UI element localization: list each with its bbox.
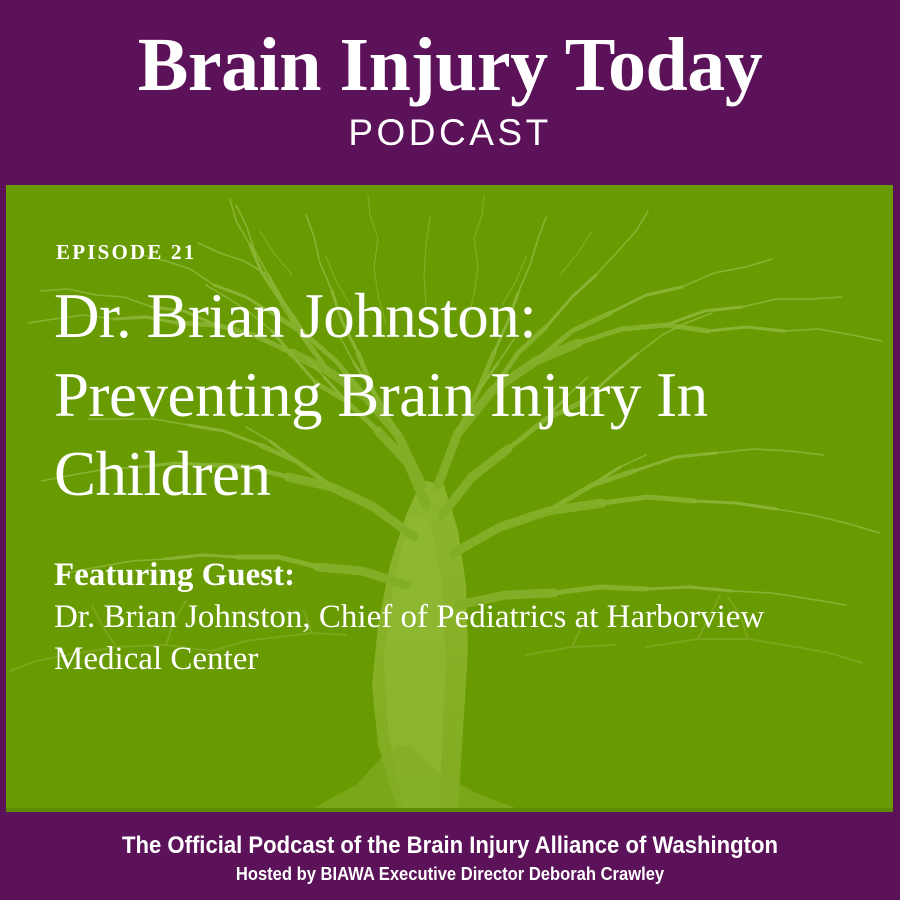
footer-affiliation: The Official Podcast of the Brain Injury… xyxy=(36,812,864,860)
episode-number-label: EPISODE 21 xyxy=(56,240,196,264)
footer-host-credit: Hosted by BIAWA Executive Director Debor… xyxy=(36,860,864,885)
guest-name-and-title: Dr. Brian Johnston, Chief of Pediatrics … xyxy=(54,596,844,680)
featuring-guest-block: Featuring Guest: Dr. Brian Johnston, Chi… xyxy=(54,554,844,680)
featuring-guest-label: Featuring Guest: xyxy=(54,554,844,596)
podcast-title: Brain Injury Today xyxy=(0,0,900,108)
footer-banner: The Official Podcast of the Brain Injury… xyxy=(0,812,900,900)
episode-content: EPISODE 21 Dr. Brian Johnston: Preventin… xyxy=(6,185,893,812)
podcast-subtitle: PODCAST xyxy=(0,108,900,154)
podcast-cover-art: Brain Injury Today PODCAST xyxy=(0,0,900,900)
header-banner: Brain Injury Today PODCAST xyxy=(0,0,900,185)
episode-panel: EPISODE 21 Dr. Brian Johnston: Preventin… xyxy=(6,185,893,812)
episode-title: Dr. Brian Johnston: Preventing Brain Inj… xyxy=(54,277,784,514)
